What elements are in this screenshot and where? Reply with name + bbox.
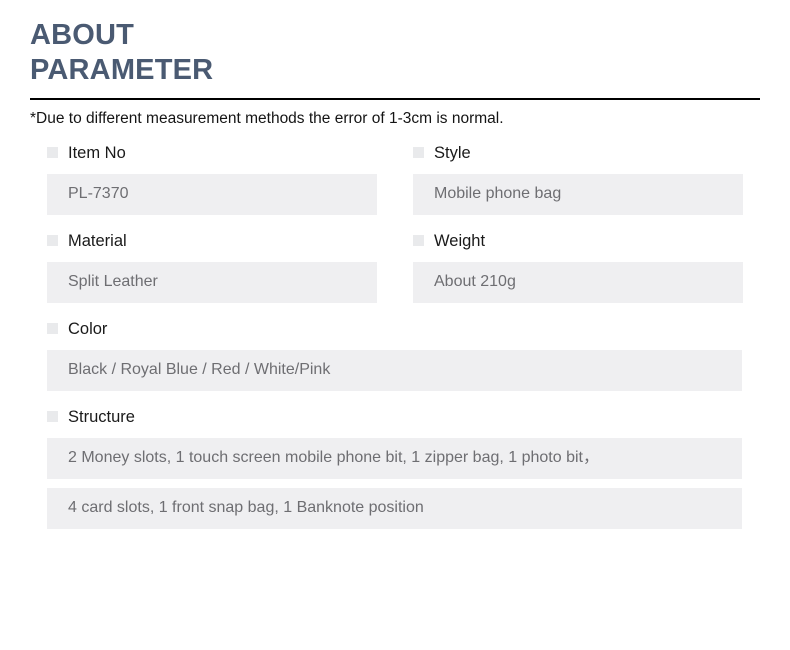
header-divider [30, 98, 760, 100]
field-label-text: Color [68, 321, 107, 338]
square-bullet-icon [47, 411, 58, 422]
field-value-box: Mobile phone bag [413, 174, 743, 215]
field-value-text: PL-7370 [68, 186, 129, 202]
field-label-text: Style [434, 145, 471, 162]
field-material: Material Split Leather [47, 231, 377, 303]
parameter-row: Item No PL-7370 Style Mobile phone bag [47, 143, 743, 231]
field-label-text: Weight [434, 233, 485, 250]
field-value-box: 4 card slots, 1 front snap bag, 1 Bankno… [47, 488, 742, 529]
field-label: Material [47, 231, 377, 251]
field-value-box: About 210g [413, 262, 743, 303]
page-header: ABOUT PARAMETER [0, 0, 790, 89]
field-value-text: Mobile phone bag [434, 186, 561, 202]
field-style: Style Mobile phone bag [413, 143, 743, 215]
page-title-line-2: PARAMETER [30, 53, 760, 88]
field-label: Weight [413, 231, 743, 251]
field-label-text: Material [68, 233, 127, 250]
field-item-no: Item No PL-7370 [47, 143, 377, 215]
square-bullet-icon [413, 235, 424, 246]
field-value-text: Split Leather [68, 274, 158, 290]
field-value-box: PL-7370 [47, 174, 377, 215]
square-bullet-icon [413, 147, 424, 158]
parameter-list: Item No PL-7370 Style Mobile phone bag [0, 143, 790, 529]
field-value-text: Black / Royal Blue / Red / White/Pink [68, 362, 330, 378]
parameter-row: Material Split Leather Weight About 210g [47, 231, 743, 319]
field-weight: Weight About 210g [413, 231, 743, 303]
field-label-text: Structure [68, 409, 135, 426]
field-value-text: About 210g [434, 274, 516, 290]
field-value-text: 2 Money slots, 1 touch screen mobile pho… [68, 450, 599, 466]
product-parameter-page: ABOUT PARAMETER *Due to different measur… [0, 0, 790, 650]
field-value-box: 2 Money slots, 1 touch screen mobile pho… [47, 438, 742, 479]
page-title-line-1: ABOUT [30, 18, 760, 53]
square-bullet-icon [47, 147, 58, 158]
field-value-box: Black / Royal Blue / Red / White/Pink [47, 350, 742, 391]
field-label: Color [47, 319, 742, 339]
field-label: Item No [47, 143, 377, 163]
field-value-text: 4 card slots, 1 front snap bag, 1 Bankno… [68, 500, 424, 516]
field-label-text: Item No [68, 145, 126, 162]
field-label: Structure [47, 407, 742, 427]
square-bullet-icon [47, 235, 58, 246]
field-structure: Structure 2 Money slots, 1 touch screen … [47, 407, 742, 529]
measurement-note: *Due to different measurement methods th… [30, 109, 790, 129]
field-color: Color Black / Royal Blue / Red / White/P… [47, 319, 742, 391]
square-bullet-icon [47, 323, 58, 334]
field-value-box: Split Leather [47, 262, 377, 303]
field-label: Style [413, 143, 743, 163]
